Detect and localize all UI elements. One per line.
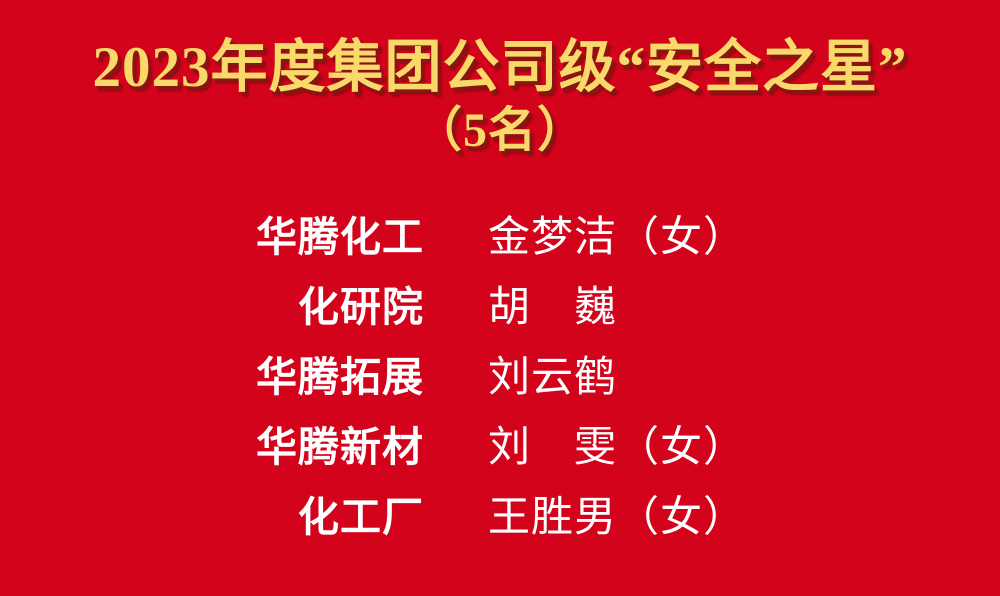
winner-list: 华腾化工 金梦洁（女） 化研院 胡 巍 华腾拓展 刘云鹤 华腾新材 刘 雯（女）… bbox=[0, 202, 1000, 552]
poster-title-main: 2023年度集团公司级“安全之星” bbox=[0, 34, 1000, 102]
winner-row: 华腾拓展 刘云鹤 bbox=[0, 342, 1000, 412]
winner-row: 化研院 胡 巍 bbox=[0, 272, 1000, 342]
winner-row: 华腾新材 刘 雯（女） bbox=[0, 412, 1000, 482]
winner-organization: 化工厂 bbox=[0, 482, 424, 552]
winner-name: 王胜男（女） bbox=[488, 483, 746, 553]
winner-row: 华腾化工 金梦洁（女） bbox=[0, 202, 1000, 272]
winner-organization: 华腾拓展 bbox=[0, 342, 424, 412]
poster-title-block: 2023年度集团公司级“安全之星” （5名） bbox=[0, 34, 1000, 162]
poster-title-count: （5名） bbox=[0, 100, 1000, 162]
winner-row: 化工厂 王胜男（女） bbox=[0, 482, 1000, 552]
award-poster: 2023年度集团公司级“安全之星” （5名） 华腾化工 金梦洁（女） 化研院 胡… bbox=[0, 0, 1000, 596]
winner-name: 金梦洁（女） bbox=[488, 203, 746, 273]
winner-organization: 华腾化工 bbox=[0, 202, 424, 272]
winner-organization: 华腾新材 bbox=[0, 412, 424, 482]
winner-name: 胡 巍 bbox=[488, 273, 617, 343]
winner-name: 刘 雯（女） bbox=[488, 413, 746, 483]
winner-name: 刘云鹤 bbox=[488, 343, 617, 413]
winner-organization: 化研院 bbox=[0, 272, 424, 342]
